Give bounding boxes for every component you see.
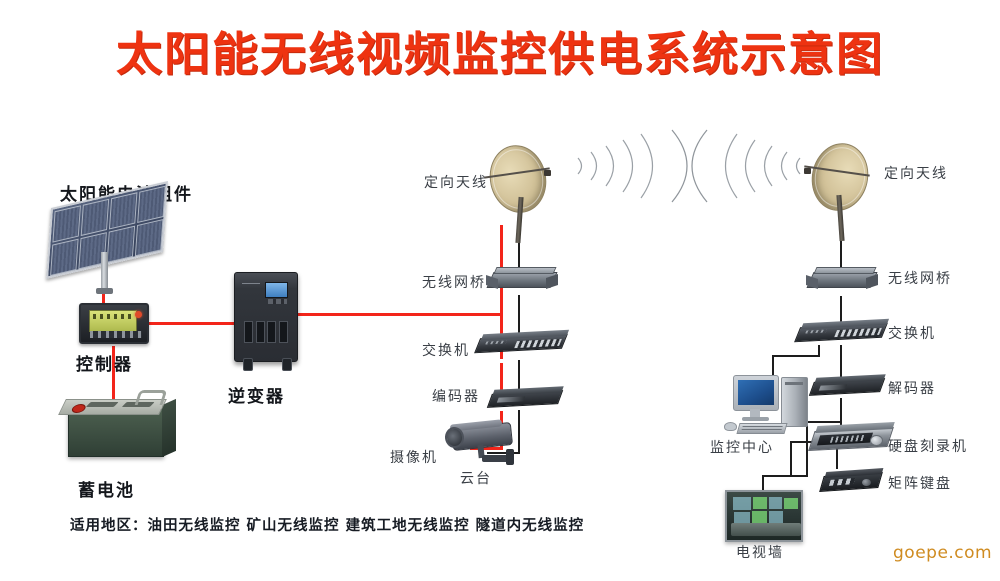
pc-mouse — [724, 422, 737, 431]
pc-keyboard — [736, 423, 787, 434]
pc-tower — [781, 377, 808, 427]
label-front-switch: 交换机 — [422, 340, 470, 360]
label-encoder: 编码器 — [432, 386, 480, 406]
inverter-vents — [244, 321, 288, 343]
pc-drive-bay — [785, 382, 803, 385]
applicable-areas-caption: 适用地区：油田无线监控 矿山无线监控 建筑工地无线监控 隧道内无线监控 — [70, 514, 584, 535]
diagram-canvas: 太阳能无线视频监控供电系统示意图 — [0, 0, 1000, 581]
back-wireless-bridge — [806, 268, 878, 292]
label-front-antenna: 定向天线 — [424, 172, 488, 192]
tv-wall-console — [731, 523, 801, 536]
matrix-keyboard — [822, 470, 880, 492]
front-wireless-bridge — [486, 268, 558, 292]
data-line-bridge-switch — [518, 295, 520, 337]
controller-terminals — [90, 331, 142, 338]
inverter — [234, 272, 298, 362]
back-network-switch — [798, 322, 884, 344]
inverter-brand-text — [242, 283, 260, 286]
pc-monitor — [733, 375, 779, 411]
controller-display — [89, 310, 137, 332]
data-line-ptz-camera — [487, 452, 520, 454]
label-matrix-keyboard: 矩阵键盘 — [888, 473, 952, 493]
power-line-controller-inverter — [148, 322, 236, 325]
video-decoder — [812, 376, 882, 398]
power-line-inverter-trunk — [295, 313, 502, 316]
data-line-switch-pc-h — [772, 355, 820, 357]
inverter-buttons — [268, 299, 287, 304]
inverter-caster-right — [282, 358, 292, 371]
inverter-caster-left — [243, 358, 253, 371]
video-encoder — [490, 388, 560, 410]
monitor-base — [742, 417, 769, 421]
storage-battery — [68, 409, 164, 457]
data-line-dvr-bus-top — [806, 421, 842, 423]
label-controller: 控制器 — [76, 350, 133, 375]
label-battery: 蓄电池 — [78, 476, 135, 501]
label-back-antenna: 定向天线 — [884, 163, 948, 183]
label-camera: 摄像机 — [390, 447, 438, 467]
power-line-antenna-feed — [500, 225, 503, 267]
page-title: 太阳能无线视频监控供电系统示意图 — [0, 18, 1000, 84]
hard-disk-recorder — [812, 424, 890, 452]
ptz-bracket-post — [506, 449, 514, 465]
dish-feed-horn — [544, 170, 551, 176]
label-back-bridge: 无线网桥 — [888, 268, 952, 288]
label-tv-wall: 电视墙 — [736, 542, 784, 562]
data-line-tvwall — [762, 475, 808, 477]
label-dvr: 硬盘刻录机 — [888, 436, 968, 456]
data-line-pc-drop — [772, 355, 774, 375]
battery-handle — [135, 390, 168, 405]
solar-charge-controller — [79, 303, 149, 344]
battery-terminal — [70, 404, 87, 413]
data-line-switch-pc-diag — [818, 345, 820, 357]
label-ptz: 云台 — [460, 468, 492, 488]
monitor-stand — [750, 409, 760, 417]
label-control-center: 监控中心 — [710, 437, 774, 457]
solar-panel-mast-cap — [96, 288, 113, 294]
label-decoder: 解码器 — [888, 378, 936, 398]
label-back-switch: 交换机 — [888, 323, 936, 343]
watermark: goepe.com — [893, 543, 992, 563]
inverter-display — [265, 282, 288, 298]
pc-screen — [738, 380, 774, 405]
data-line-encoder-ptz — [518, 410, 520, 454]
front-network-switch — [478, 333, 564, 355]
label-front-bridge: 无线网桥 — [422, 272, 486, 292]
controller-led-icon — [135, 311, 142, 318]
tv-wall — [725, 490, 803, 542]
label-inverter: 逆变器 — [228, 382, 285, 407]
dish-feed-horn — [804, 168, 811, 174]
data-line-dvr-bus-v2 — [790, 441, 792, 475]
battery-side — [162, 399, 176, 457]
